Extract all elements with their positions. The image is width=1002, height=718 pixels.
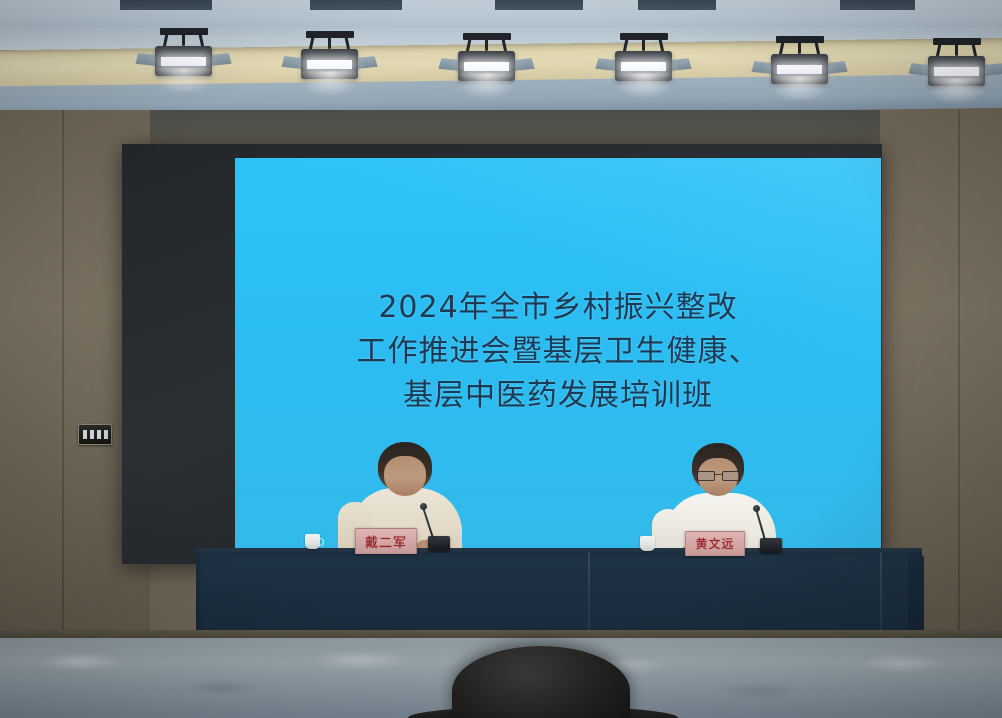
nameplate-left: 戴二军 (355, 528, 417, 554)
nameplate-right-text: 黄文远 (695, 535, 734, 552)
ceiling-panel (840, 0, 915, 10)
microphone-capsule (420, 503, 427, 510)
slide-title-text: 2024年全市乡村振兴整改 工作推进会暨基层卫生健康、 基层中医药发展培训班 (235, 286, 881, 418)
nameplate-left-text: 戴二军 (365, 532, 407, 551)
stage-light-icon (455, 33, 519, 95)
wall-seam (62, 110, 64, 670)
ceiling-panel (310, 0, 402, 10)
wall-seam (958, 110, 960, 670)
stage-light-icon (152, 28, 216, 90)
nameplate-right: 黄文远 (685, 531, 745, 556)
teacup (305, 534, 320, 549)
microphone-capsule (753, 505, 760, 512)
wall-control-panel-icon[interactable] (78, 424, 112, 445)
stage-light-icon (298, 31, 362, 93)
ceiling-panel (495, 0, 583, 10)
ceiling-panel (120, 0, 212, 10)
stage-light-icon (612, 33, 676, 95)
speaker-left-face (384, 456, 426, 496)
stage-light-icon (768, 36, 832, 98)
teacup (640, 536, 655, 551)
stage-light-icon (925, 38, 989, 100)
conference-room-photo: 2024年全市乡村振兴整改 工作推进会暨基层卫生健康、 基层中医药发展培训班 (0, 0, 1002, 718)
eyeglasses-icon (697, 471, 739, 479)
ceiling-panel (638, 0, 716, 10)
